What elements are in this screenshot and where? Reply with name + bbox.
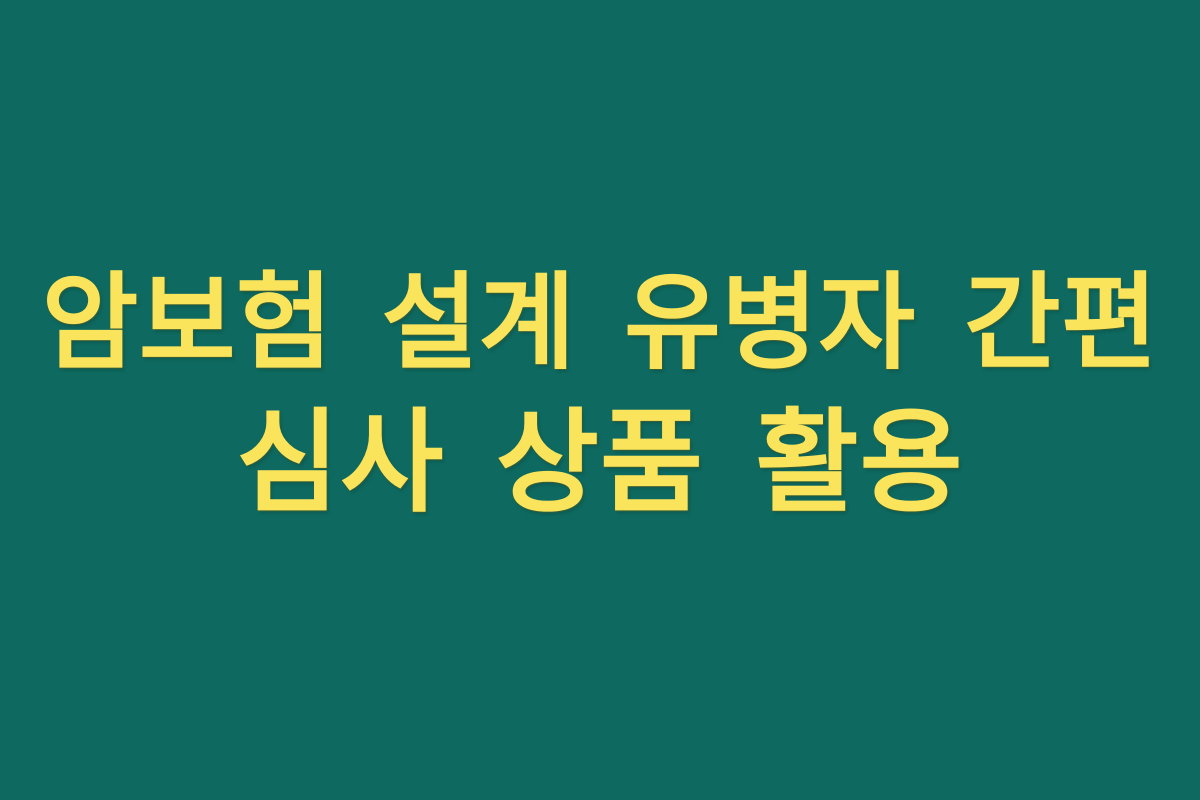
page-title-line-1: 암보험 설계 유병자 간편: [40, 253, 1160, 393]
page-title: 암보험 설계 유병자 간편 심사 상품 활용: [40, 253, 1160, 547]
title-card: 암보험 설계 유병자 간편 심사 상품 활용: [0, 0, 1200, 800]
page-title-line-2: 심사 상품 활용: [40, 393, 1160, 533]
